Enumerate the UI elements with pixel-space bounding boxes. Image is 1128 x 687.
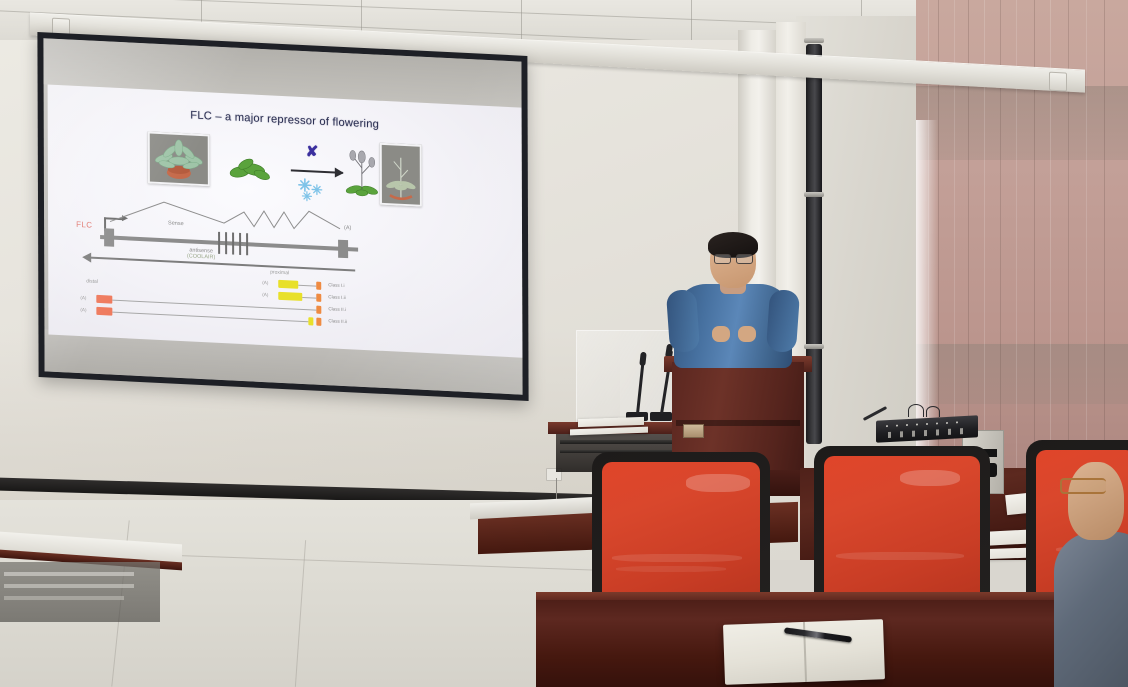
attendee-glasses: [1060, 478, 1106, 494]
presenter: [668, 232, 798, 364]
rosette-plant-photo: [148, 131, 210, 186]
mixer-cable: [926, 406, 940, 417]
window-light-gap: [916, 120, 938, 450]
presentation-slide: FLC – a major repressor of flowering: [48, 84, 523, 357]
isoform-class-label: Class I.i: [328, 282, 344, 288]
isoform-class-label: Class II.i: [328, 306, 346, 312]
seated-attendee: [1062, 462, 1128, 687]
office-chair[interactable]: [814, 446, 990, 614]
isoform-class-label: Class II.ii: [328, 318, 347, 324]
flc-gene-label: FLC: [76, 220, 92, 230]
polyA-marker: (A): [262, 280, 268, 285]
isoform-row: (A) Class I.i: [276, 280, 386, 293]
polyA-sense-label: (A): [344, 225, 351, 231]
proximal-label: proximal: [270, 269, 289, 276]
gene-exon-start: [104, 228, 114, 246]
polyA-marker: (A): [262, 292, 268, 297]
purple-x-mark: ✘: [306, 142, 319, 161]
folding-table-frame: [0, 562, 160, 622]
isoform-class-label: Class I.ii: [328, 294, 345, 300]
gene-exon-end: [338, 240, 348, 258]
attendee-shoulder: [1054, 532, 1128, 687]
blue-snowflake-cluster: [294, 177, 328, 205]
distal-label: distal: [86, 278, 98, 285]
seminar-room-photo: FLC – a major repressor of flowering: [0, 0, 1128, 687]
black-right-arrow: [291, 169, 343, 174]
isoform-row: (A) Class I.ii: [276, 292, 386, 305]
green-leaf-illustration: [228, 155, 274, 183]
flowering-plant-illustration: [344, 145, 380, 199]
presenter-glasses: [714, 254, 752, 262]
bolting-plant-photo: [380, 143, 422, 207]
mixer-cable: [908, 404, 924, 417]
presenter-left-hand: [712, 326, 730, 342]
attendee-head: [1068, 462, 1124, 540]
presenter-right-hand: [738, 326, 756, 342]
projection-screen[interactable]: FLC – a major repressor of flowering: [37, 32, 528, 401]
podium-plaque: [683, 424, 704, 438]
polyA-marker: (A): [80, 307, 86, 312]
sense-transcript-label: Sense: [168, 220, 184, 227]
black-vertical-pipe: [806, 44, 822, 444]
presenter-left-arm: [666, 289, 700, 353]
polyA-marker: (A): [80, 295, 86, 300]
presenter-right-arm: [766, 289, 800, 353]
